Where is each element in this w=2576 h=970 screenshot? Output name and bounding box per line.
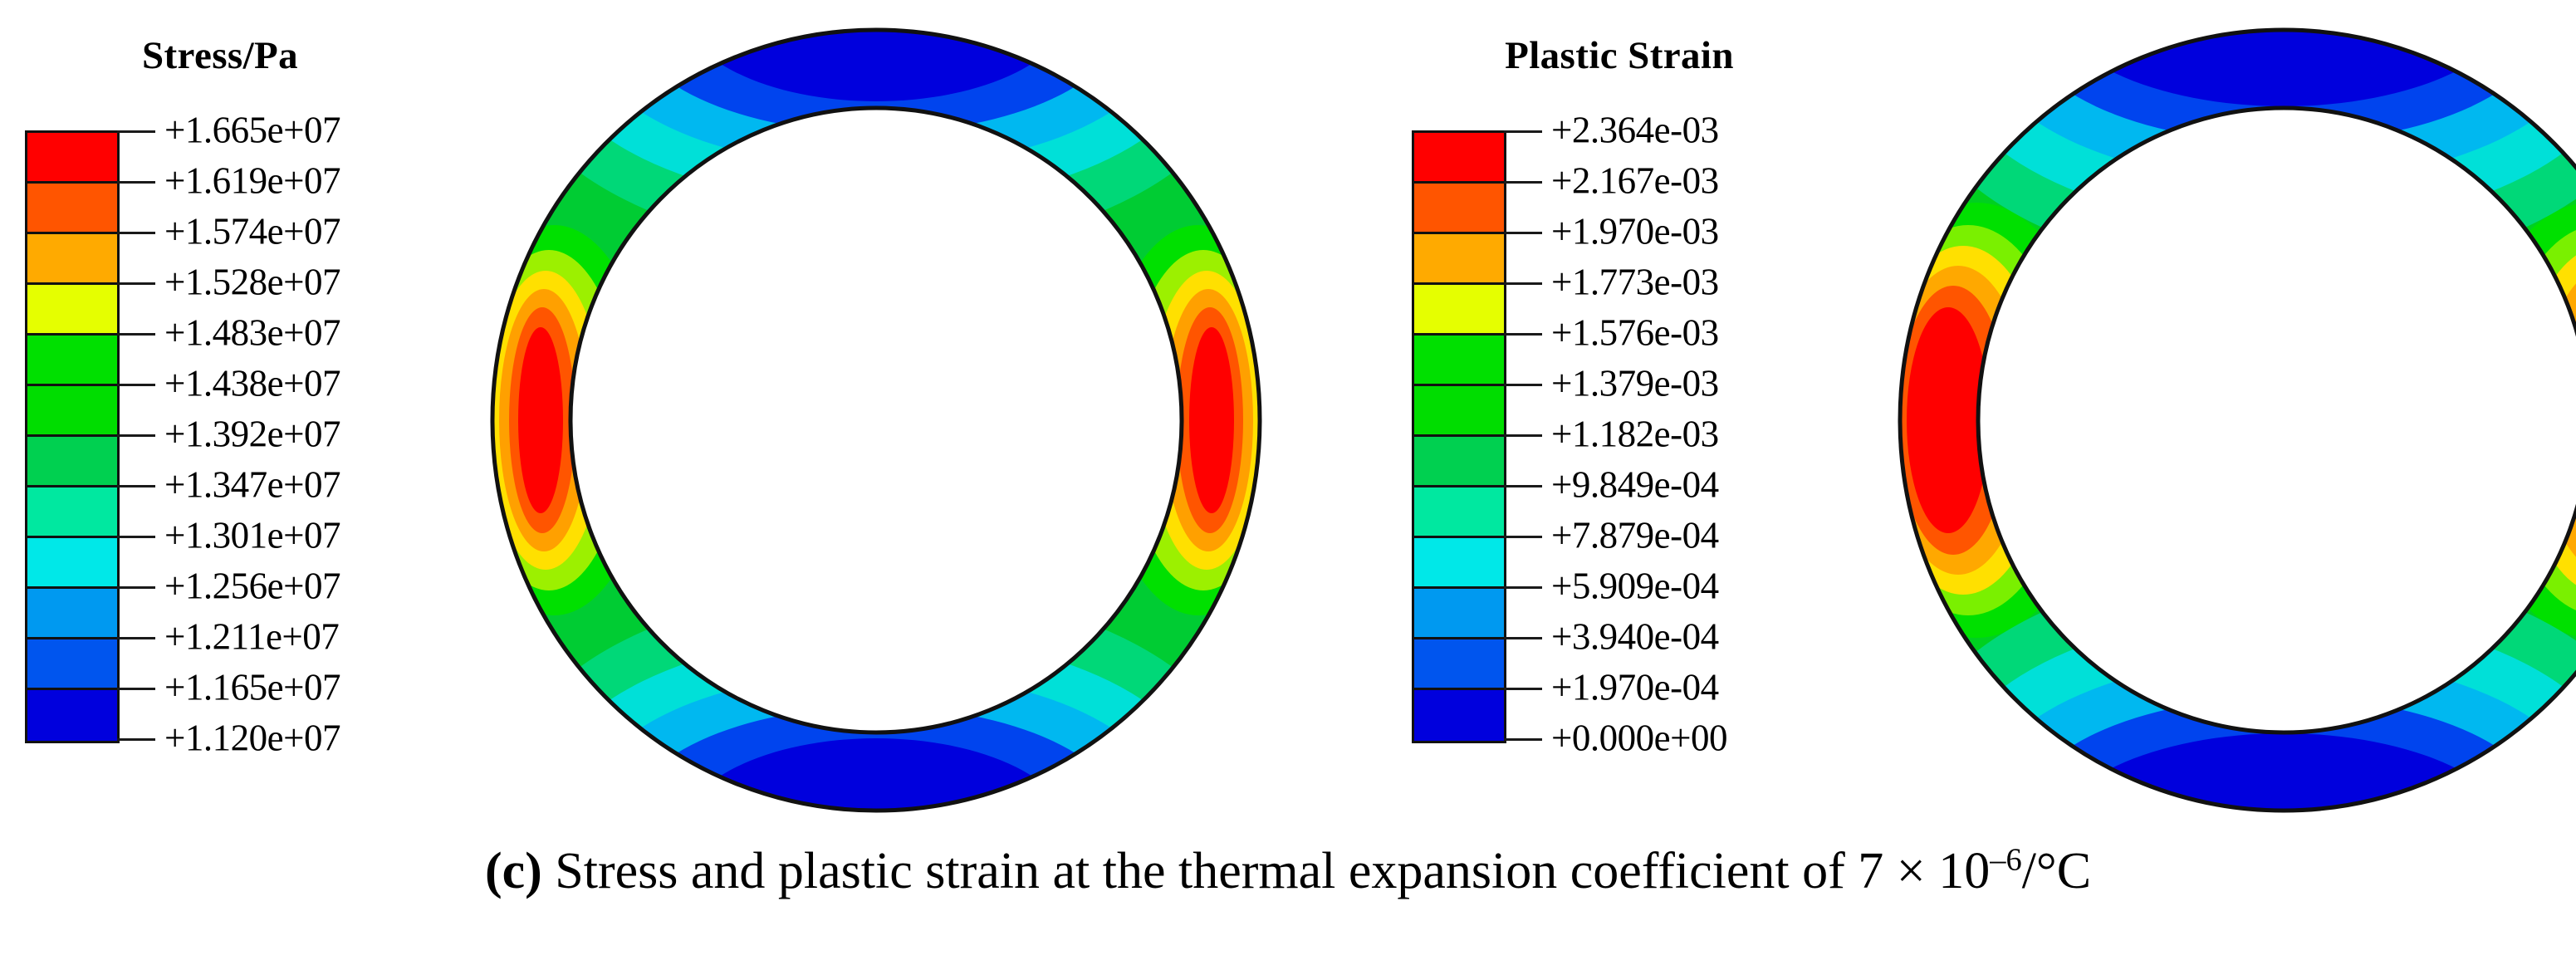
inner-boundary bbox=[1978, 108, 2576, 732]
colorbar-band-8 bbox=[27, 487, 117, 538]
legend-title-strain: Plastic Strain bbox=[1403, 33, 1835, 78]
colorbar-tick-9 bbox=[1504, 536, 1542, 538]
colorbar-band-3 bbox=[1414, 234, 1504, 285]
colorbar-tick-11 bbox=[117, 637, 155, 639]
colorbar-tick-label-13: +0.000e+00 bbox=[1551, 720, 1850, 757]
colorbar-tick-6 bbox=[1504, 384, 1542, 386]
colorbar-tick-label-10: +5.909e-04 bbox=[1551, 568, 1850, 605]
colorbar-ticks-stress bbox=[117, 128, 155, 741]
colorbar-tick-label-5: +1.576e-03 bbox=[1551, 315, 1850, 352]
colorbar-band-2 bbox=[27, 184, 117, 234]
colorbar-ticks-strain bbox=[1504, 128, 1542, 741]
colorbar-tick-4 bbox=[117, 282, 155, 285]
colorbar-band-10 bbox=[27, 589, 117, 639]
colorbar-tick-label-4: +1.773e-03 bbox=[1551, 264, 1850, 301]
colorbar-tick-5 bbox=[117, 333, 155, 336]
colorbar-tick-6 bbox=[117, 384, 155, 386]
colorbar-tick-2 bbox=[117, 181, 155, 184]
colorbar-band-5 bbox=[1414, 336, 1504, 386]
colorbar-tick-label-10: +1.256e+07 bbox=[164, 568, 463, 605]
colorbar-tick-label-9: +7.879e-04 bbox=[1551, 517, 1850, 555]
panel-stress: Stress/Pa +1.665e+07+1.619e+07+1.574e+07… bbox=[0, 0, 1304, 839]
colorbar-band-7 bbox=[1414, 437, 1504, 487]
legend-title-stress: Stress/Pa bbox=[25, 33, 415, 78]
colorbar-tick-label-12: +1.165e+07 bbox=[164, 669, 463, 707]
inner-boundary bbox=[571, 108, 1182, 732]
colorbar-tick-label-1: +2.364e-03 bbox=[1551, 112, 1850, 149]
panel-strain: Plastic Strain +2.364e-03+2.167e-03+1.97… bbox=[1304, 0, 2576, 839]
colorbar-band-11 bbox=[27, 639, 117, 690]
colorbar-tick-8 bbox=[1504, 485, 1542, 487]
colorbar-tick-label-7: +1.392e+07 bbox=[164, 416, 463, 453]
stress-contour-svg bbox=[477, 15, 1275, 825]
colorbar-tick-label-11: +1.211e+07 bbox=[164, 619, 463, 656]
colorbar-stress bbox=[25, 130, 120, 743]
figure-root: Stress/Pa +1.665e+07+1.619e+07+1.574e+07… bbox=[0, 0, 2576, 970]
colorbar-band-8 bbox=[1414, 487, 1504, 538]
colorbar-band-10 bbox=[1414, 589, 1504, 639]
colorbar-band-12 bbox=[1414, 690, 1504, 741]
colorbar-band-2 bbox=[1414, 184, 1504, 234]
caption-text: Stress and plastic strain at the thermal… bbox=[542, 843, 1991, 899]
colorbar-band-9 bbox=[27, 538, 117, 589]
colorbar-tick-label-2: +2.167e-03 bbox=[1551, 163, 1850, 200]
colorbar-tick-label-13: +1.120e+07 bbox=[164, 720, 463, 757]
colorbar-band-7 bbox=[27, 437, 117, 487]
colorbar-labels-strain: +2.364e-03+2.167e-03+1.970e-03+1.773e-03… bbox=[1551, 128, 1850, 741]
caption-label: (c) bbox=[485, 843, 542, 899]
colorbar-band-6 bbox=[1414, 386, 1504, 437]
colorbar-tick-2 bbox=[1504, 181, 1542, 184]
caption-suffix: /°C bbox=[2022, 843, 2091, 899]
colorbar-labels-stress: +1.665e+07+1.619e+07+1.574e+07+1.528e+07… bbox=[164, 128, 463, 741]
stress-contour-ring bbox=[477, 15, 1275, 825]
colorbar-band-1 bbox=[1414, 133, 1504, 184]
colorbar-tick-3 bbox=[117, 232, 155, 234]
colorbar-tick-5 bbox=[1504, 333, 1542, 336]
colorbar-tick-label-8: +9.849e-04 bbox=[1551, 467, 1850, 504]
caption-exponent: –6 bbox=[1990, 842, 2021, 877]
colorbar-tick-label-6: +1.379e-03 bbox=[1551, 365, 1850, 403]
colorbar-tick-label-11: +3.940e-04 bbox=[1551, 619, 1850, 656]
colorbar-tick-8 bbox=[117, 485, 155, 487]
colorbar-band-4 bbox=[27, 285, 117, 336]
colorbar-tick-label-1: +1.665e+07 bbox=[164, 112, 463, 149]
colorbar-tick-label-8: +1.347e+07 bbox=[164, 467, 463, 504]
colorbar-tick-7 bbox=[117, 434, 155, 437]
colorbar-band-12 bbox=[27, 690, 117, 741]
plastic-strain-contour-svg bbox=[1885, 15, 2576, 825]
colorbar-band-4 bbox=[1414, 285, 1504, 336]
colorbar-tick-1 bbox=[1504, 130, 1542, 133]
colorbar-tick-13 bbox=[1504, 738, 1542, 741]
colorbar-tick-1 bbox=[117, 130, 155, 133]
colorbar-tick-12 bbox=[117, 688, 155, 690]
colorbar-band-11 bbox=[1414, 639, 1504, 690]
stress-contour-bands bbox=[477, 15, 1275, 825]
colorbar-tick-10 bbox=[117, 586, 155, 589]
colorbar-tick-label-12: +1.970e-04 bbox=[1551, 669, 1850, 707]
colorbar-band-9 bbox=[1414, 538, 1504, 589]
colorbar-strain bbox=[1412, 130, 1506, 743]
colorbar-band-6 bbox=[27, 386, 117, 437]
colorbar-tick-label-7: +1.182e-03 bbox=[1551, 416, 1850, 453]
plastic-strain-contour-bands bbox=[1885, 15, 2576, 825]
colorbar-band-5 bbox=[27, 336, 117, 386]
colorbar-tick-12 bbox=[1504, 688, 1542, 690]
colorbar-tick-label-4: +1.528e+07 bbox=[164, 264, 463, 301]
colorbar-tick-13 bbox=[117, 738, 155, 741]
colorbar-tick-label-9: +1.301e+07 bbox=[164, 517, 463, 555]
colorbar-tick-label-2: +1.619e+07 bbox=[164, 163, 463, 200]
colorbar-tick-4 bbox=[1504, 282, 1542, 285]
colorbar-tick-label-5: +1.483e+07 bbox=[164, 315, 463, 352]
colorbar-tick-7 bbox=[1504, 434, 1542, 437]
colorbar-tick-label-3: +1.970e-03 bbox=[1551, 213, 1850, 251]
figure-caption: (c) Stress and plastic strain at the the… bbox=[0, 840, 2576, 902]
colorbar-tick-3 bbox=[1504, 232, 1542, 234]
colorbar-tick-9 bbox=[117, 536, 155, 538]
colorbar-band-1 bbox=[27, 133, 117, 184]
colorbar-tick-label-6: +1.438e+07 bbox=[164, 365, 463, 403]
colorbar-tick-label-3: +1.574e+07 bbox=[164, 213, 463, 251]
plastic-strain-contour-ring bbox=[1885, 15, 2576, 825]
colorbar-tick-11 bbox=[1504, 637, 1542, 639]
colorbar-tick-10 bbox=[1504, 586, 1542, 589]
colorbar-band-3 bbox=[27, 234, 117, 285]
